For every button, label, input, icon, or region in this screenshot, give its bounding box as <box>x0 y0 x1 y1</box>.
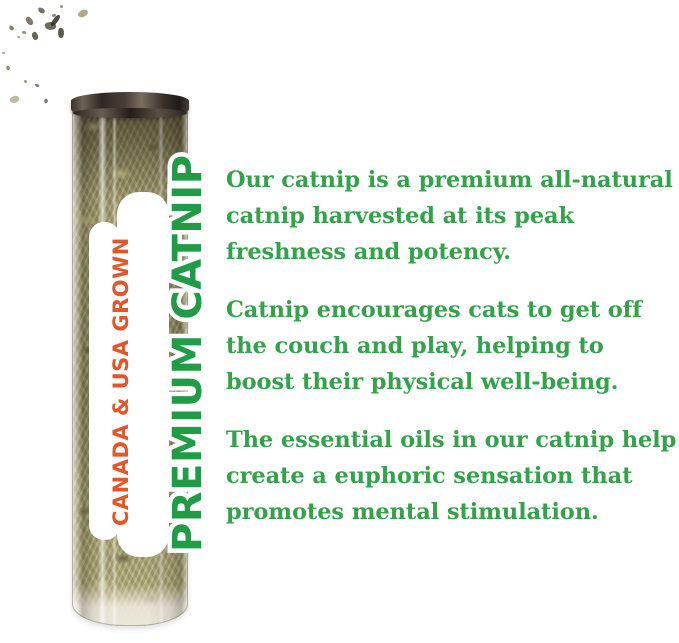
catnip-flake <box>2 52 5 54</box>
catnip-flake <box>57 28 64 39</box>
catnip-flake <box>22 31 26 35</box>
catnip-flake <box>52 13 57 18</box>
catnip-flake <box>60 5 63 8</box>
catnip-flake <box>35 84 40 88</box>
catnip-flake <box>24 80 28 84</box>
product-label-sticker: CANADA & USA GROWN PREMIUM CATNIP <box>87 192 171 557</box>
tube-cap-lip <box>73 108 187 118</box>
catnip-flake <box>37 7 45 14</box>
catnip-flake <box>5 65 11 71</box>
catnip-flake <box>43 98 49 104</box>
catnip-flake <box>30 31 40 41</box>
catnip-flake <box>77 8 89 20</box>
catnip-flake <box>24 16 35 26</box>
copy-paragraph-1: Our catnip is a premium all-natural catn… <box>226 162 678 270</box>
marketing-copy-block: Our catnip is a premium all-natural catn… <box>226 162 678 530</box>
copy-paragraph-2: Catnip encourages cats to get off the co… <box>226 292 678 400</box>
copy-paragraph-3: The essential oils in our catnip help cr… <box>226 422 678 530</box>
label-origin-claim: CANADA & USA GROWN <box>109 237 133 526</box>
catnip-flake <box>9 94 20 105</box>
catnip-flake <box>50 14 61 28</box>
catnip-product-tube: CANADA & USA GROWN PREMIUM CATNIP <box>71 92 189 630</box>
catnip-flake <box>8 25 14 31</box>
label-product-name: PREMIUM CATNIP <box>165 154 211 552</box>
catnip-flake <box>44 21 56 31</box>
catnip-flake <box>17 36 20 38</box>
